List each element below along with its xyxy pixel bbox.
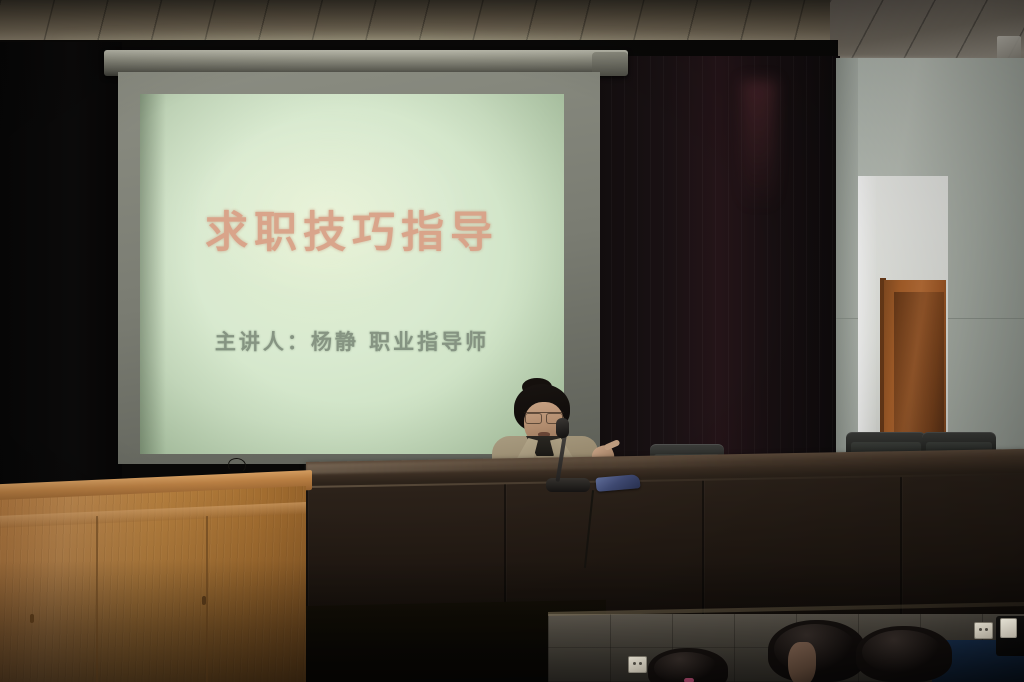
hair-clip-icon [684, 678, 694, 682]
blank-plate[interactable] [1000, 618, 1017, 638]
audience-head-2-face [788, 642, 816, 682]
lectern-panel-seam-2 [206, 516, 208, 682]
audience-head-3-sheen [862, 630, 942, 674]
lectern-panel-seam-1 [96, 516, 98, 682]
lectern-keyhole-1 [30, 614, 34, 623]
left-stage-curtain [0, 42, 122, 492]
microphone-icon[interactable] [556, 418, 569, 438]
screen-left-shadow [140, 94, 166, 454]
lectern-keyhole-2 [202, 596, 206, 605]
microphone-base[interactable] [546, 478, 590, 492]
power-outlet-left[interactable] [628, 656, 647, 673]
alcove-inner-shadow [858, 176, 876, 476]
curtain-highlight [742, 80, 776, 210]
power-outlet-right[interactable] [974, 622, 993, 639]
lecture-hall-photo: 求职技巧指导 主讲人：杨静 职业指导师 [0, 0, 1024, 682]
